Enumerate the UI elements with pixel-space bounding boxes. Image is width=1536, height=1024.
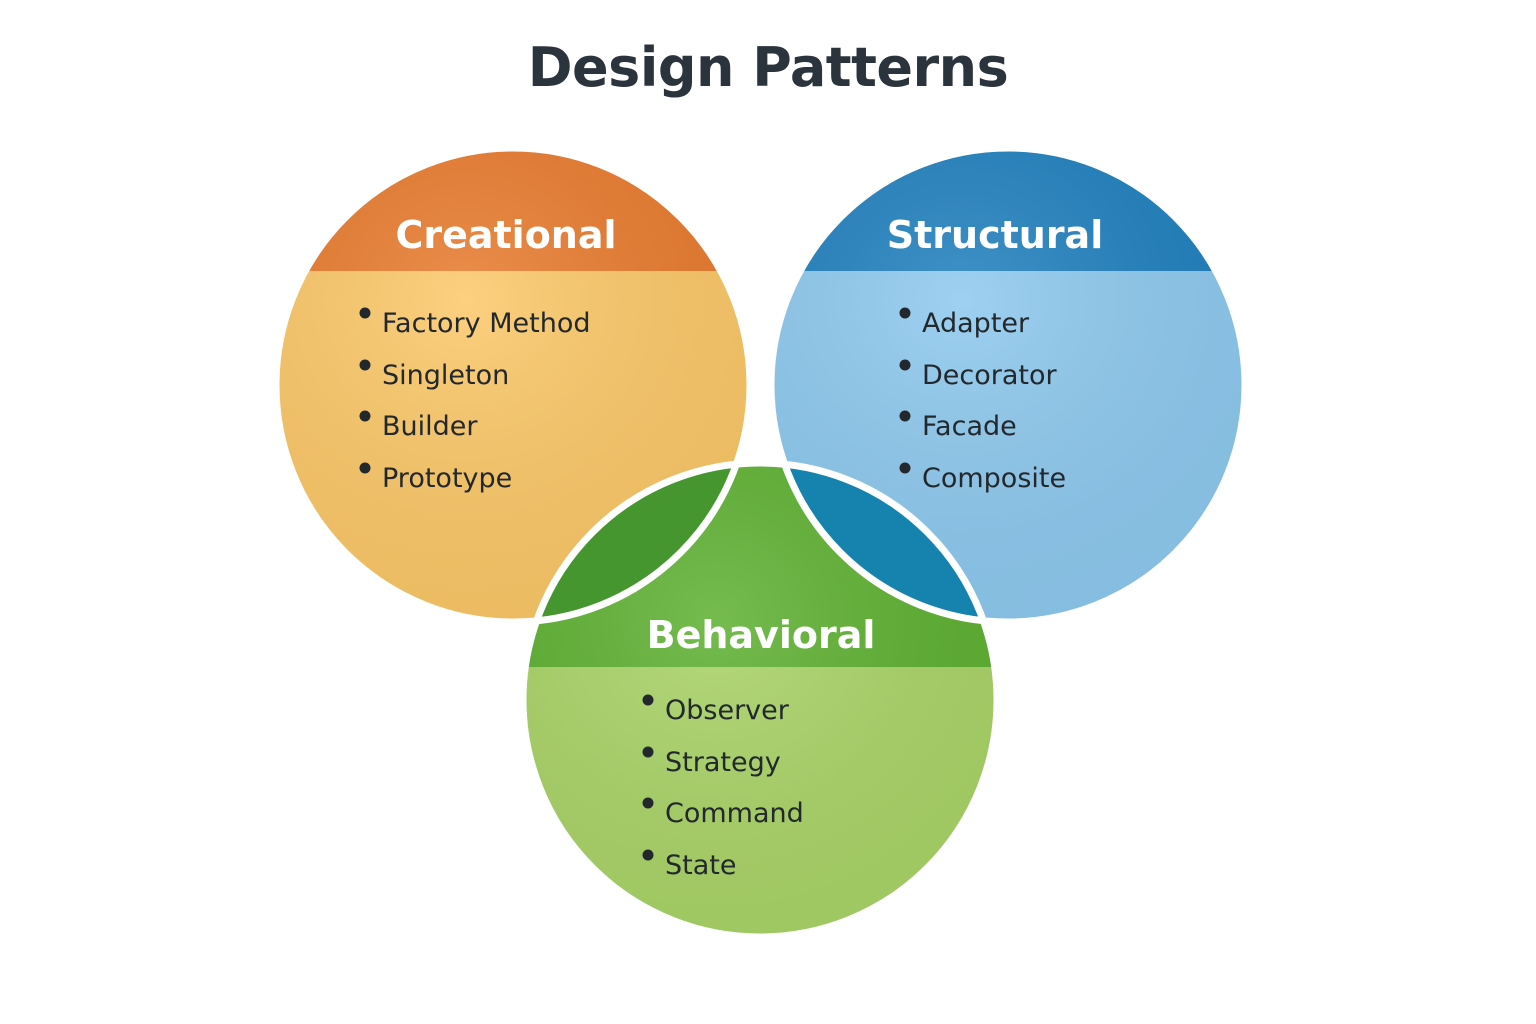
list-item: Composite [900,463,1067,495]
list-item-label: Builder [382,411,478,442]
bullet-icon [900,463,911,474]
bullet-icon [900,411,911,422]
behavioral-label: Behavioral [647,613,876,657]
list-item: Factory Method [360,308,591,340]
list-item-label: Strategy [665,747,781,778]
list-item: Decorator [900,360,1058,392]
list-item-label: Adapter [922,308,1030,339]
venn-diagram: Creational Structural Behavioral Factory… [0,0,1536,1024]
bullet-icon [900,308,911,319]
list-item-label: Composite [922,463,1066,494]
list-item: Observer [643,695,790,727]
list-item: Prototype [360,463,513,495]
list-item-label: Factory Method [382,308,590,339]
list-item-label: Decorator [922,360,1058,391]
list-item: Singleton [360,360,510,392]
bullet-icon [643,695,654,706]
list-item-label: State [665,850,736,881]
bullet-icon [643,850,654,861]
bullet-icon [643,747,654,758]
bullet-icon [360,463,371,474]
list-item-label: Prototype [382,463,512,494]
bullet-icon [360,411,371,422]
bullet-icon [900,360,911,371]
structural-label: Structural [887,213,1103,257]
list-item-label: Facade [922,411,1017,442]
bullet-icon [360,308,371,319]
diagram-canvas: Design Patterns [0,0,1536,1024]
list-item-label: Singleton [382,360,509,391]
list-item-label: Command [665,798,804,829]
bullet-icon [643,798,654,809]
creational-label: Creational [395,213,616,257]
list-item: Command [643,798,804,830]
list-item-label: Observer [665,695,790,726]
bullet-icon [360,360,371,371]
